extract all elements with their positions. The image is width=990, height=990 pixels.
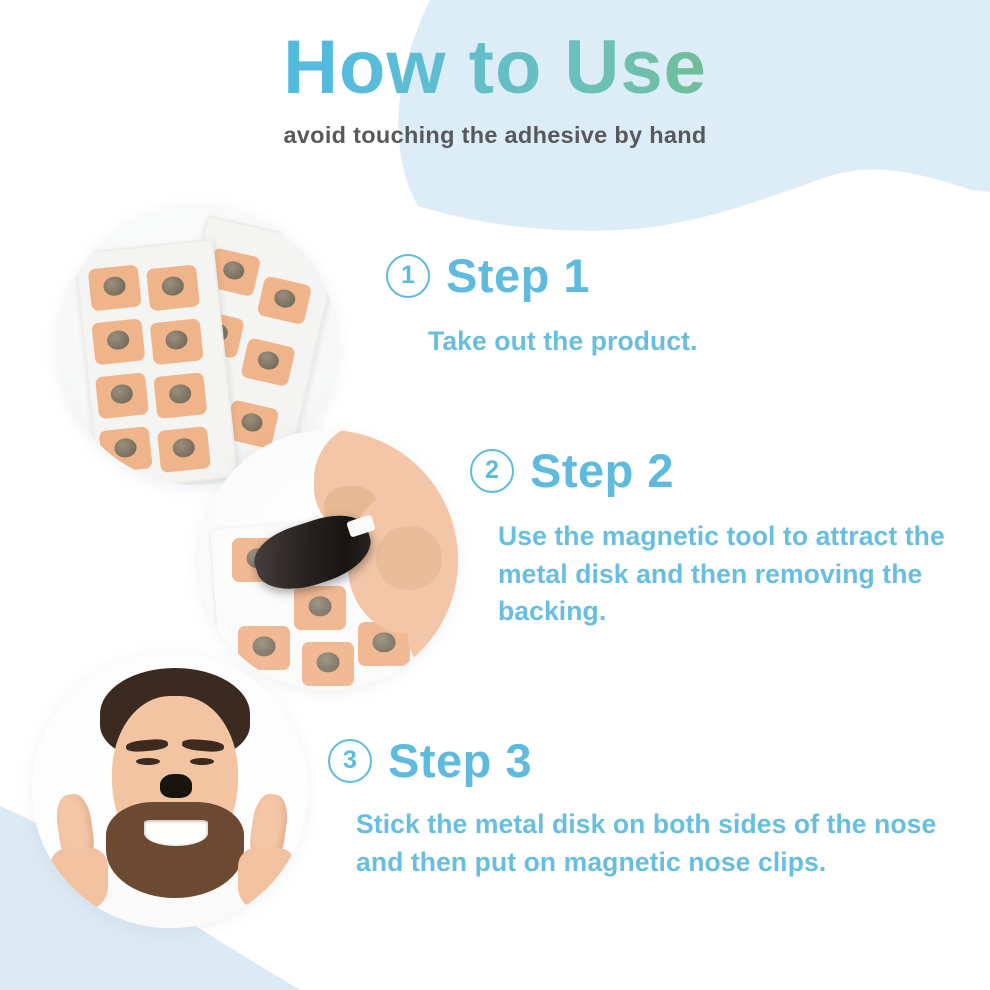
step-2-title: Step 2: [530, 447, 674, 494]
step-2-number-badge: 2: [470, 449, 514, 493]
wearing-nose-clip-photo: [32, 652, 308, 928]
step-3-title: Step 3: [388, 737, 532, 784]
step-2-heading: 2 Step 2: [470, 447, 970, 494]
right-eye: [190, 758, 214, 765]
step-1-heading: 1 Step 1: [386, 252, 946, 299]
step-3: 3 Step 3 Stick the metal disk on both si…: [328, 737, 968, 881]
left-fist: [50, 848, 108, 910]
magnetic-tool-scene: [198, 430, 458, 690]
step-2-body: Use the magnetic tool to attract the met…: [498, 518, 970, 631]
nose-clip: [160, 774, 192, 798]
magnetic-tool-photo: [198, 430, 458, 690]
step-1-number-badge: 1: [386, 254, 430, 298]
mouth: [144, 820, 208, 846]
step-3-heading: 3 Step 3: [328, 737, 968, 784]
how-to-use-poster: How to Use avoid touching the adhesive b…: [0, 0, 990, 990]
step-1-title: Step 1: [446, 252, 590, 299]
page-subtitle: avoid touching the adhesive by hand: [0, 122, 990, 149]
page-title: How to Use: [0, 28, 990, 108]
step-3-body: Stick the metal disk on both sides of th…: [356, 806, 968, 881]
step-3-number-badge: 3: [328, 739, 372, 783]
beard: [106, 802, 244, 898]
step-1: 1 Step 1 Take out the product.: [386, 252, 946, 361]
step-2: 2 Step 2 Use the magnetic tool to attrac…: [470, 447, 970, 631]
thumb-fingernail: [376, 526, 442, 590]
poster-header: How to Use avoid touching the adhesive b…: [0, 28, 990, 149]
step-1-body: Take out the product.: [428, 323, 946, 361]
right-fist: [238, 848, 296, 910]
wearing-nose-clip-scene: [32, 652, 308, 928]
left-eye: [136, 758, 160, 765]
